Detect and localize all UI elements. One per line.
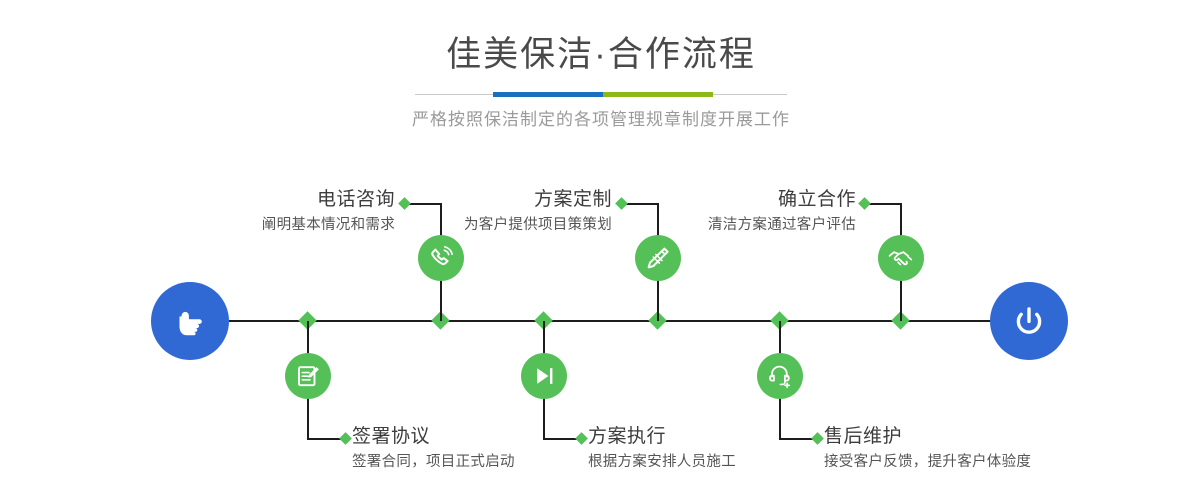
step-title-6: 售后维护 [824,425,1184,449]
step-node-6[interactable] [757,353,803,399]
pencil-edit-icon [644,244,672,272]
divider-segment-green [603,92,713,97]
page-title: 佳美保洁·合作流程 [0,32,1202,78]
divider-segment-blue [493,92,603,97]
header: 佳美保洁·合作流程 严格按照保洁制定的各项管理规章制度开展工作 [0,32,1202,132]
power-icon [1007,299,1051,343]
handshake-icon [887,244,915,272]
pointing-hand-icon [168,299,212,343]
step-node-2[interactable] [285,353,331,399]
sign-document-icon [294,362,322,390]
title-divider [415,92,787,97]
timeline-start-node [151,282,229,360]
phone-call-icon [427,244,455,272]
step-label-6: 售后维护 接受客户反馈，提升客户体验度 [824,425,1184,473]
label-marker-5 [858,197,871,210]
process-flow-infographic: 佳美保洁·合作流程 严格按照保洁制定的各项管理规章制度开展工作 [0,0,1202,502]
step-node-5[interactable] [878,235,924,281]
timeline-end-node [990,282,1068,360]
label-marker-2 [339,432,352,445]
step-node-4[interactable] [521,353,567,399]
play-execute-icon [530,362,558,390]
step-node-3[interactable] [635,235,681,281]
step-node-1[interactable] [418,235,464,281]
step-label-5: 确立合作 清洁方案通过客户评估 [556,188,856,236]
page-subtitle: 严格按照保洁制定的各项管理规章制度开展工作 [0,108,1202,132]
step-title-5: 确立合作 [556,188,856,212]
step-desc-5: 清洁方案通过客户评估 [556,214,856,236]
support-headset-icon [766,362,794,390]
step-desc-6: 接受客户反馈，提升客户体验度 [824,451,1184,473]
